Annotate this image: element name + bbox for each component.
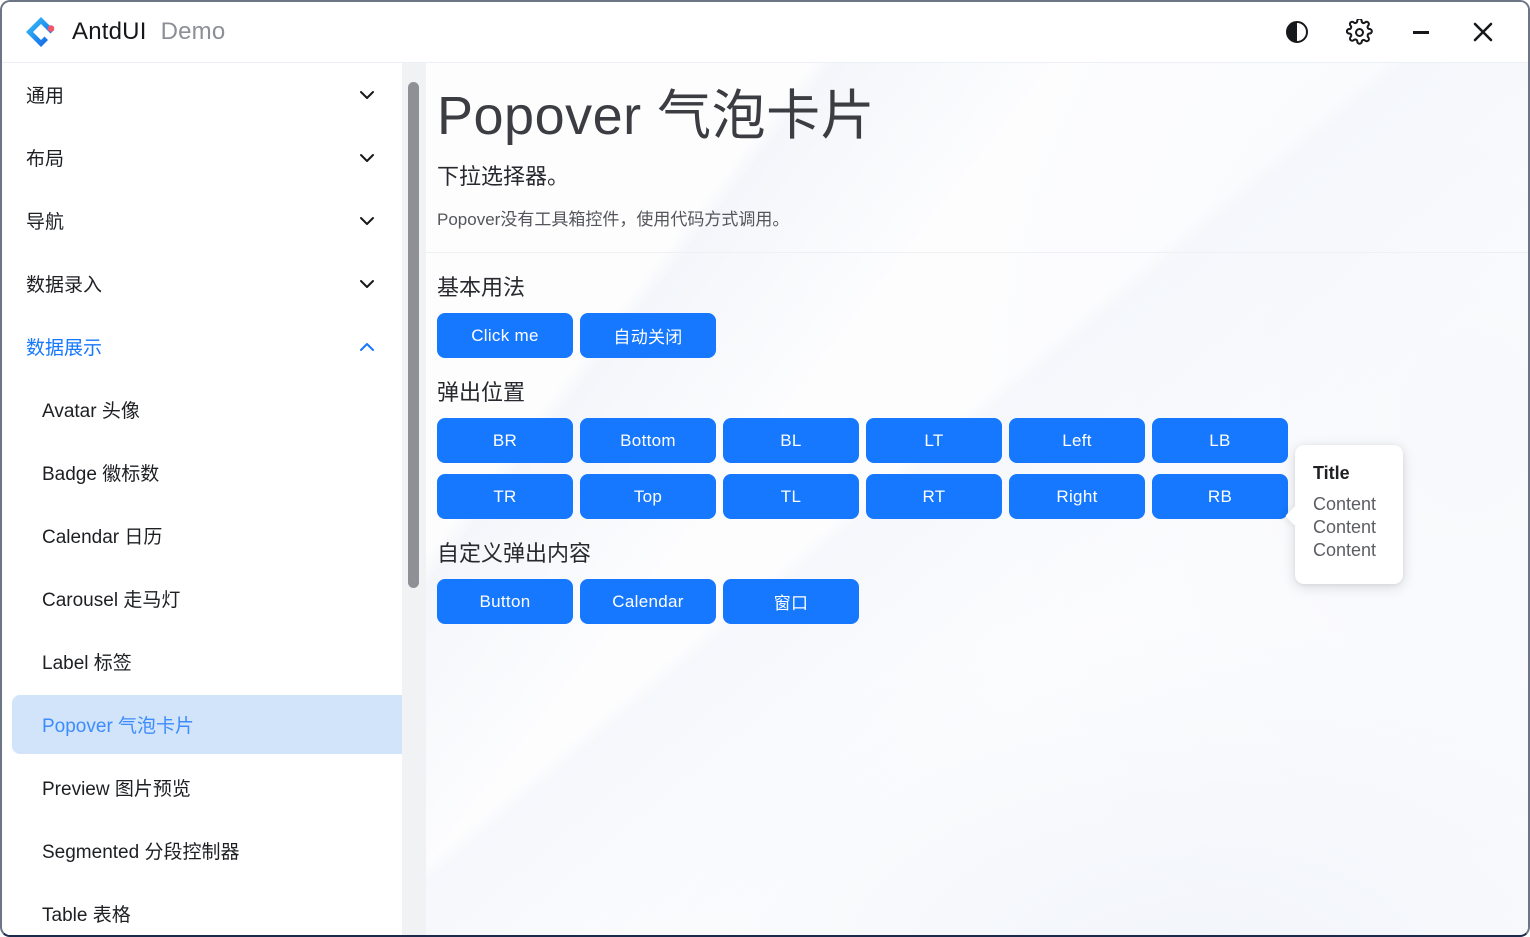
chevron-up-icon [356,336,378,358]
popover-content-line: Content [1313,539,1387,562]
theme-toggle-icon[interactable] [1266,9,1328,55]
minimize-icon[interactable] [1390,9,1452,55]
chevron-down-icon [356,210,378,232]
sidebar-item-label: Preview 图片预览 [42,774,191,801]
sidebar-item-label: Popover 气泡卡片 [42,711,194,738]
app-name: AntdUI [72,18,147,46]
basic-button-row: Click me 自动关闭 [437,313,1528,358]
sidebar-group-shujuluru[interactable]: 数据录入 [4,252,404,315]
sidebar-scrollbar[interactable] [402,63,426,937]
custom-button-window[interactable]: 窗口 [723,579,859,624]
title-bar: AntdUI Demo [2,2,1528,63]
section-title-basic: 基本用法 [437,270,1528,302]
placement-button-lt[interactable]: LT [866,418,1002,463]
sidebar-item-label: Carousel 走马灯 [42,585,180,612]
placement-button-rb[interactable]: RB [1152,474,1288,519]
placement-button-bottom[interactable]: Bottom [580,418,716,463]
sidebar-item-segmented[interactable]: Segmented 分段控制器 [4,819,404,882]
page-title: Popover 气泡卡片 [437,85,1528,147]
sidebar-item-table[interactable]: Table 表格 [4,882,404,937]
sidebar-scrollbar-thumb[interactable] [408,82,419,588]
click-me-button[interactable]: Click me [437,313,573,358]
placement-button-lb[interactable]: LB [1152,418,1288,463]
header-divider [426,252,1528,253]
placement-button-tl[interactable]: TL [723,474,859,519]
sidebar-item-preview[interactable]: Preview 图片预览 [4,756,404,819]
app-brand: AntdUI Demo [2,15,225,49]
chevron-down-icon [356,84,378,106]
auto-close-button[interactable]: 自动关闭 [580,313,716,358]
sidebar-item-label: Avatar 头像 [42,396,140,423]
sidebar-group-label: 数据展示 [26,333,102,360]
sidebar-item-carousel[interactable]: Carousel 走马灯 [4,567,404,630]
placement-button-bl[interactable]: BL [723,418,859,463]
popover-title: Title [1313,463,1387,484]
sidebar-item-label: Calendar 日历 [42,522,162,549]
sidebar-item-avatar[interactable]: Avatar 头像 [4,378,404,441]
placement-button-left[interactable]: Left [1009,418,1145,463]
sidebar-group-shujuzhanshi[interactable]: 数据展示 [4,315,404,378]
popover-content-line: Content [1313,516,1387,539]
placement-button-br[interactable]: BR [437,418,573,463]
custom-button-row: Button Calendar 窗口 [437,579,1528,624]
page-description: Popover没有工具箱控件，使用代码方式调用。 [437,205,1528,230]
close-icon[interactable] [1452,9,1514,55]
placement-button-top[interactable]: Top [580,474,716,519]
placement-button-right[interactable]: Right [1009,474,1145,519]
sidebar-group-label: 通用 [26,81,64,108]
sidebar-nav: 通用 布局 导航 数据录入 数据展示 [4,63,404,937]
main-content: Popover 气泡卡片 下拉选择器。 Popover没有工具箱控件，使用代码方… [426,63,1528,937]
sidebar-group-tongyong[interactable]: 通用 [4,63,404,126]
custom-button-button[interactable]: Button [437,579,573,624]
section-title-placement: 弹出位置 [437,375,1528,407]
app-name-suffix: Demo [161,18,226,46]
chevron-down-icon [356,273,378,295]
page-subtitle: 下拉选择器。 [437,159,1528,191]
placement-button-rt[interactable]: RT [866,474,1002,519]
sidebar-item-label: Label 标签 [42,648,132,675]
window-controls [1266,9,1528,55]
sidebar-item-badge[interactable]: Badge 徽标数 [4,441,404,504]
chevron-down-icon [356,147,378,169]
sidebar-group-buju[interactable]: 布局 [4,126,404,189]
gear-icon[interactable] [1328,9,1390,55]
sidebar-item-label: Table 表格 [42,900,131,927]
sidebar-item-label: Badge 徽标数 [42,459,159,486]
antdui-logo-icon [24,15,58,49]
sidebar-group-label: 导航 [26,207,64,234]
sidebar-group-label: 数据录入 [26,270,102,297]
popover-content-line: Content [1313,493,1387,516]
sidebar-item-label: Segmented 分段控制器 [42,837,239,864]
sidebar-group-daohang[interactable]: 导航 [4,189,404,252]
sidebar-item-popover[interactable]: Popover 气泡卡片 [4,693,404,756]
placement-button-tr[interactable]: TR [437,474,573,519]
custom-button-calendar[interactable]: Calendar [580,579,716,624]
sidebar-group-label: 布局 [26,144,64,171]
popover-card: Title Content Content Content [1295,445,1403,584]
sidebar-item-label[interactable]: Label 标签 [4,630,404,693]
app-window: AntdUI Demo [0,0,1530,937]
sidebar-item-calendar[interactable]: Calendar 日历 [4,504,404,567]
